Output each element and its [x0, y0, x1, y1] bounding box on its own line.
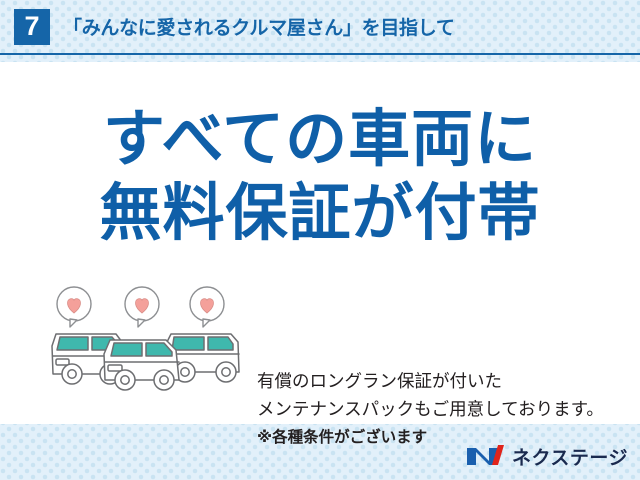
banner-header: 7 「みんなに愛されるクルマ屋さん」を目指して — [0, 0, 640, 55]
cars-illustration-svg — [46, 284, 246, 402]
description-line-1: 有償のロングラン保証が付いた — [257, 368, 604, 396]
description-line-2: メンテナンスパックもご用意しております。 — [257, 396, 604, 424]
car-minivan-center — [104, 340, 179, 390]
content-panel: すべての車両に 無料保証が付帯 — [0, 62, 640, 424]
header-title: 「みんなに愛されるクルマ屋さん」を目指して — [63, 13, 455, 40]
promo-banner: 7 「みんなに愛されるクルマ屋さん」を目指して すべての車両に 無料保証が付帯 — [0, 0, 640, 480]
headline-line-1: すべての車両に — [0, 108, 640, 170]
section-number-badge: 7 — [14, 9, 50, 45]
description-text: 有償のロングラン保証が付いた メンテナンスパックもご用意しております。 ※各種条… — [257, 368, 604, 450]
brand-footer: ネクステージ — [465, 441, 628, 471]
nexstage-n-logo-icon — [465, 443, 505, 469]
brand-name: ネクステージ — [512, 443, 628, 470]
cars-illustration — [46, 284, 246, 402]
info-row: 有償のロングラン保証が付いた メンテナンスパックもご用意しております。 ※各種条… — [0, 284, 640, 404]
headline-line-2: 無料保証が付帯 — [0, 182, 640, 244]
